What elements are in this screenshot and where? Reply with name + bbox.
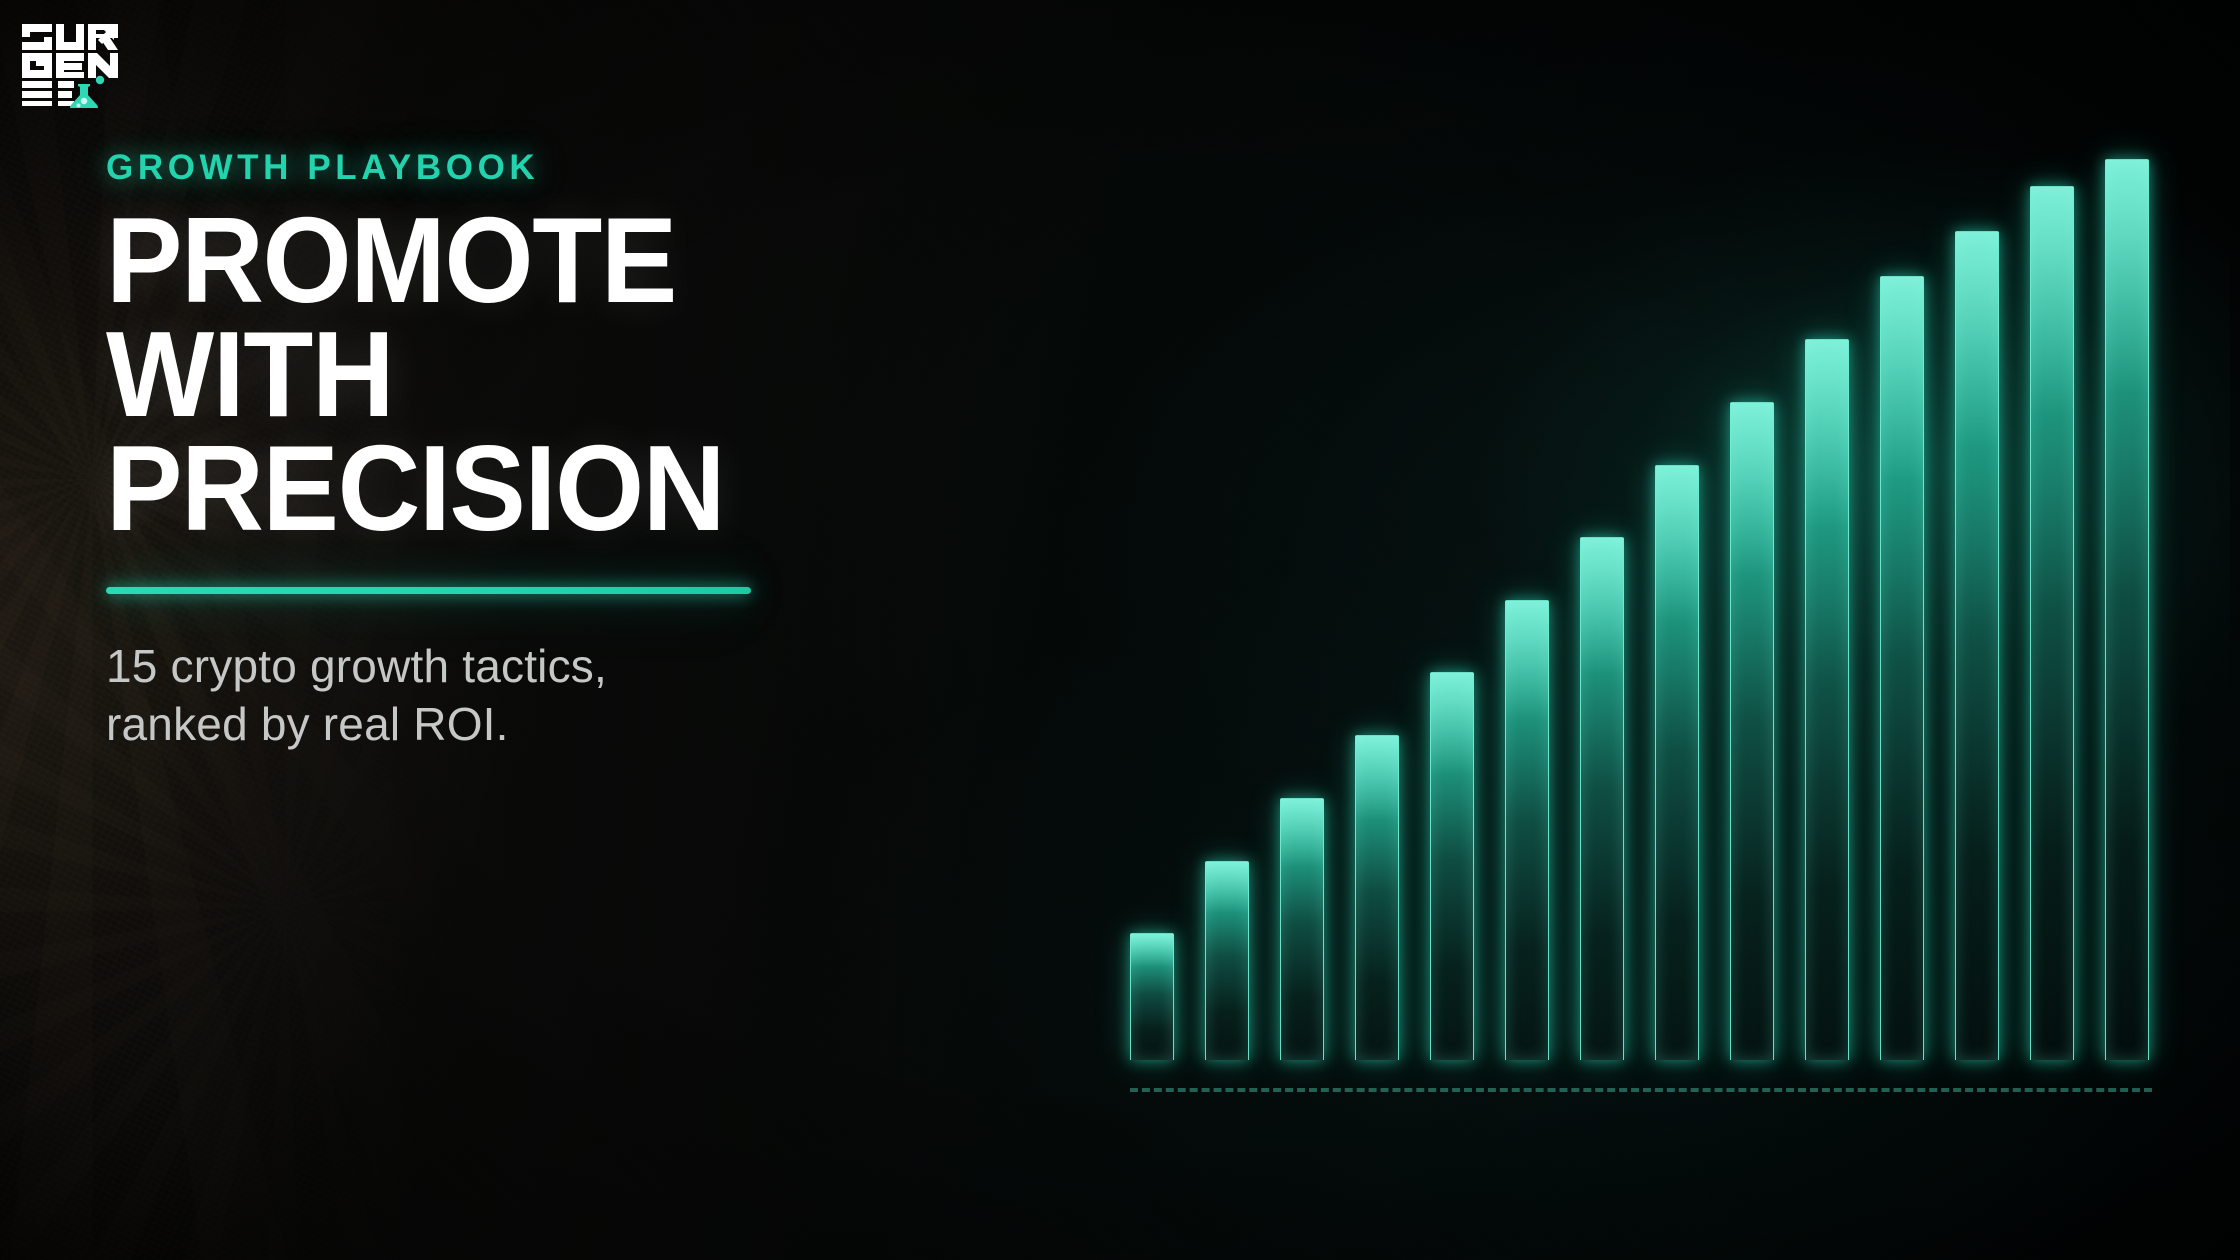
page-title: PROMOTE WITH PRECISION <box>106 203 1046 545</box>
headline-line-3: PRECISION <box>106 431 1046 545</box>
chart-bar <box>1505 600 1549 1060</box>
surgence-logo[interactable] <box>16 22 124 108</box>
flask-icon <box>70 76 104 108</box>
chart-bar <box>1955 231 1999 1060</box>
chart-baseline <box>1130 1088 2152 1092</box>
subheadline: 15 crypto growth tactics, ranked by real… <box>106 638 1106 754</box>
eyebrow-label: GROWTH PLAYBOOK <box>106 150 1106 185</box>
poster-canvas: GROWTH PLAYBOOK PROMOTE WITH PRECISION 1… <box>0 0 2240 1260</box>
headline-line-2: WITH <box>106 317 1046 431</box>
chart-bar <box>1430 672 1474 1060</box>
chart-bar <box>1880 276 1924 1060</box>
chart-bar <box>2030 186 2074 1060</box>
headline-line-1: PROMOTE <box>106 203 1046 317</box>
chart-bar <box>1205 861 1249 1060</box>
hero-content: GROWTH PLAYBOOK PROMOTE WITH PRECISION 1… <box>106 150 1106 754</box>
subheadline-line-1: 15 crypto growth tactics, <box>106 638 1106 696</box>
chart-bar <box>1805 339 1849 1060</box>
subheadline-line-2: ranked by real ROI. <box>106 696 1106 754</box>
growth-bar-chart <box>1130 120 2190 1120</box>
accent-divider <box>106 587 751 594</box>
chart-bar <box>1355 735 1399 1060</box>
chart-bar <box>1730 402 1774 1060</box>
chart-bar <box>2105 159 2149 1060</box>
chart-bars <box>1130 160 2160 1060</box>
chart-bar <box>1280 798 1324 1060</box>
chart-bar <box>1655 465 1699 1060</box>
chart-bar <box>1130 933 1174 1060</box>
chart-bar <box>1580 537 1624 1060</box>
